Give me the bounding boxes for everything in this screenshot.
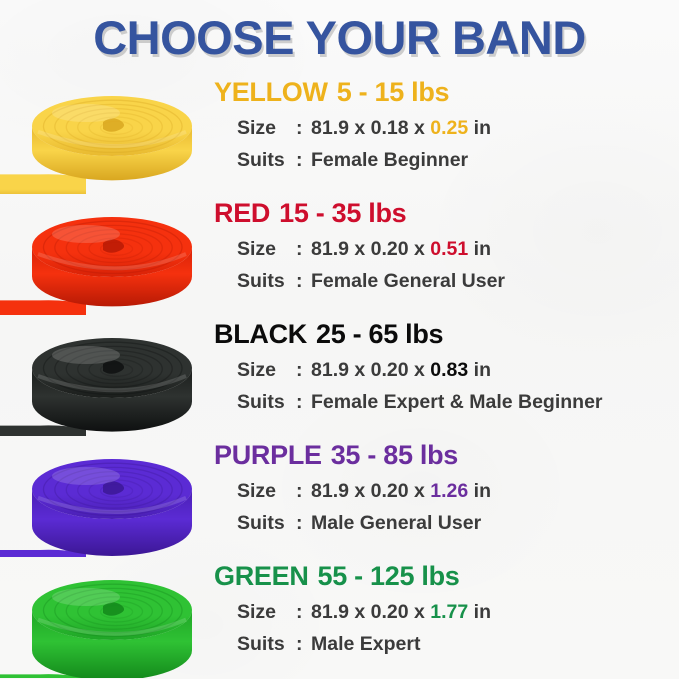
band-photo-red: [0, 195, 200, 315]
size-label: Size: [237, 482, 296, 502]
size-colon: :: [296, 482, 311, 502]
suits-value: Male General User: [311, 512, 481, 534]
suits-value: Male Expert: [311, 633, 420, 655]
band-color-name: GREEN: [214, 561, 309, 591]
band-resistance: 15 - 35 lbs: [279, 198, 406, 228]
band-thickness: 1.26: [430, 480, 468, 502]
suits-label: Suits: [237, 635, 296, 655]
size-label: Size: [237, 361, 296, 381]
band-suits-row: Suits:Male Expert: [237, 635, 420, 655]
band-resistance: 25 - 65 lbs: [316, 319, 443, 349]
size-unit-text: in: [474, 238, 491, 260]
band-suits-row: Suits:Female General User: [237, 272, 505, 292]
band-resistance: 35 - 85 lbs: [331, 440, 458, 470]
band-photo-purple: [0, 437, 200, 557]
suits-colon: :: [296, 514, 311, 534]
band-resistance: 5 - 15 lbs: [337, 77, 450, 107]
band-photo-black: [0, 316, 200, 436]
band-thickness: 0.25: [430, 117, 468, 139]
band-row: YELLOW5 - 15 lbsSize:81.9 x 0.18 x 0.25 …: [0, 74, 679, 194]
band-thickness: 0.83: [430, 359, 468, 381]
size-label: Size: [237, 119, 296, 139]
band-info: PURPLE35 - 85 lbsSize:81.9 x 0.20 x 1.26…: [210, 437, 679, 557]
size-colon: :: [296, 240, 311, 260]
band-heading: PURPLE35 - 85 lbs: [214, 441, 458, 471]
suits-label: Suits: [237, 272, 296, 292]
suits-value: Female Beginner: [311, 149, 468, 171]
suits-value: Female Expert & Male Beginner: [311, 391, 603, 413]
size-dimensions: 81.9 x 0.20 x: [311, 238, 430, 260]
band-size-row: Size:81.9 x 0.18 x 0.25 in: [237, 119, 491, 139]
band-info: GREEN55 - 125 lbsSize:81.9 x 0.20 x 1.77…: [210, 558, 679, 678]
infographic-page: CHOOSE YOUR BAND YELLOW5 - 15 lbsSize:81…: [0, 0, 679, 679]
size-colon: :: [296, 603, 311, 623]
page-title-text: CHOOSE YOUR BAND: [93, 14, 586, 61]
band-resistance: 55 - 125 lbs: [318, 561, 460, 591]
band-heading: RED15 - 35 lbs: [214, 199, 406, 229]
band-photo-green: [0, 558, 200, 678]
size-dimensions: 81.9 x 0.20 x: [311, 359, 430, 381]
band-info: YELLOW5 - 15 lbsSize:81.9 x 0.18 x 0.25 …: [210, 74, 679, 194]
band-size-row: Size:81.9 x 0.20 x 1.26 in: [237, 482, 491, 502]
band-size-row: Size:81.9 x 0.20 x 0.83 in: [237, 361, 491, 381]
size-colon: :: [296, 119, 311, 139]
band-heading: BLACK25 - 65 lbs: [214, 320, 443, 350]
band-color-name: PURPLE: [214, 440, 322, 470]
band-suits-row: Suits:Female Expert & Male Beginner: [237, 393, 603, 413]
suits-colon: :: [296, 272, 311, 292]
band-color-name: YELLOW: [214, 77, 328, 107]
band-suits-row: Suits:Male General User: [237, 514, 481, 534]
band-row: RED15 - 35 lbsSize:81.9 x 0.20 x 0.51 in…: [0, 195, 679, 315]
suits-colon: :: [296, 635, 311, 655]
suits-colon: :: [296, 393, 311, 413]
band-size-row: Size:81.9 x 0.20 x 1.77 in: [237, 603, 491, 623]
band-photo-yellow: [0, 74, 200, 194]
suits-value: Female General User: [311, 270, 505, 292]
band-info: BLACK25 - 65 lbsSize:81.9 x 0.20 x 0.83 …: [210, 316, 679, 436]
size-unit-text: in: [474, 601, 491, 623]
size-unit-text: in: [474, 480, 491, 502]
band-info: RED15 - 35 lbsSize:81.9 x 0.20 x 0.51 in…: [210, 195, 679, 315]
size-label: Size: [237, 603, 296, 623]
band-heading: GREEN55 - 125 lbs: [214, 562, 460, 592]
band-row: BLACK25 - 65 lbsSize:81.9 x 0.20 x 0.83 …: [0, 316, 679, 436]
size-dimensions: 81.9 x 0.20 x: [311, 601, 430, 623]
size-dimensions: 81.9 x 0.18 x: [311, 117, 430, 139]
band-heading: YELLOW5 - 15 lbs: [214, 78, 449, 108]
band-color-name: RED: [214, 198, 270, 228]
size-label: Size: [237, 240, 296, 260]
band-suits-row: Suits:Female Beginner: [237, 151, 468, 171]
suits-label: Suits: [237, 151, 296, 171]
band-size-row: Size:81.9 x 0.20 x 0.51 in: [237, 240, 491, 260]
size-unit-text: in: [474, 117, 491, 139]
band-thickness: 1.77: [430, 601, 468, 623]
size-colon: :: [296, 361, 311, 381]
suits-label: Suits: [237, 393, 296, 413]
band-row: GREEN55 - 125 lbsSize:81.9 x 0.20 x 1.77…: [0, 558, 679, 678]
size-unit-text: in: [474, 359, 491, 381]
size-dimensions: 81.9 x 0.20 x: [311, 480, 430, 502]
band-row: PURPLE35 - 85 lbsSize:81.9 x 0.20 x 1.26…: [0, 437, 679, 557]
page-title: CHOOSE YOUR BAND: [0, 0, 679, 74]
band-color-name: BLACK: [214, 319, 307, 349]
suits-label: Suits: [237, 514, 296, 534]
band-thickness: 0.51: [430, 238, 468, 260]
suits-colon: :: [296, 151, 311, 171]
